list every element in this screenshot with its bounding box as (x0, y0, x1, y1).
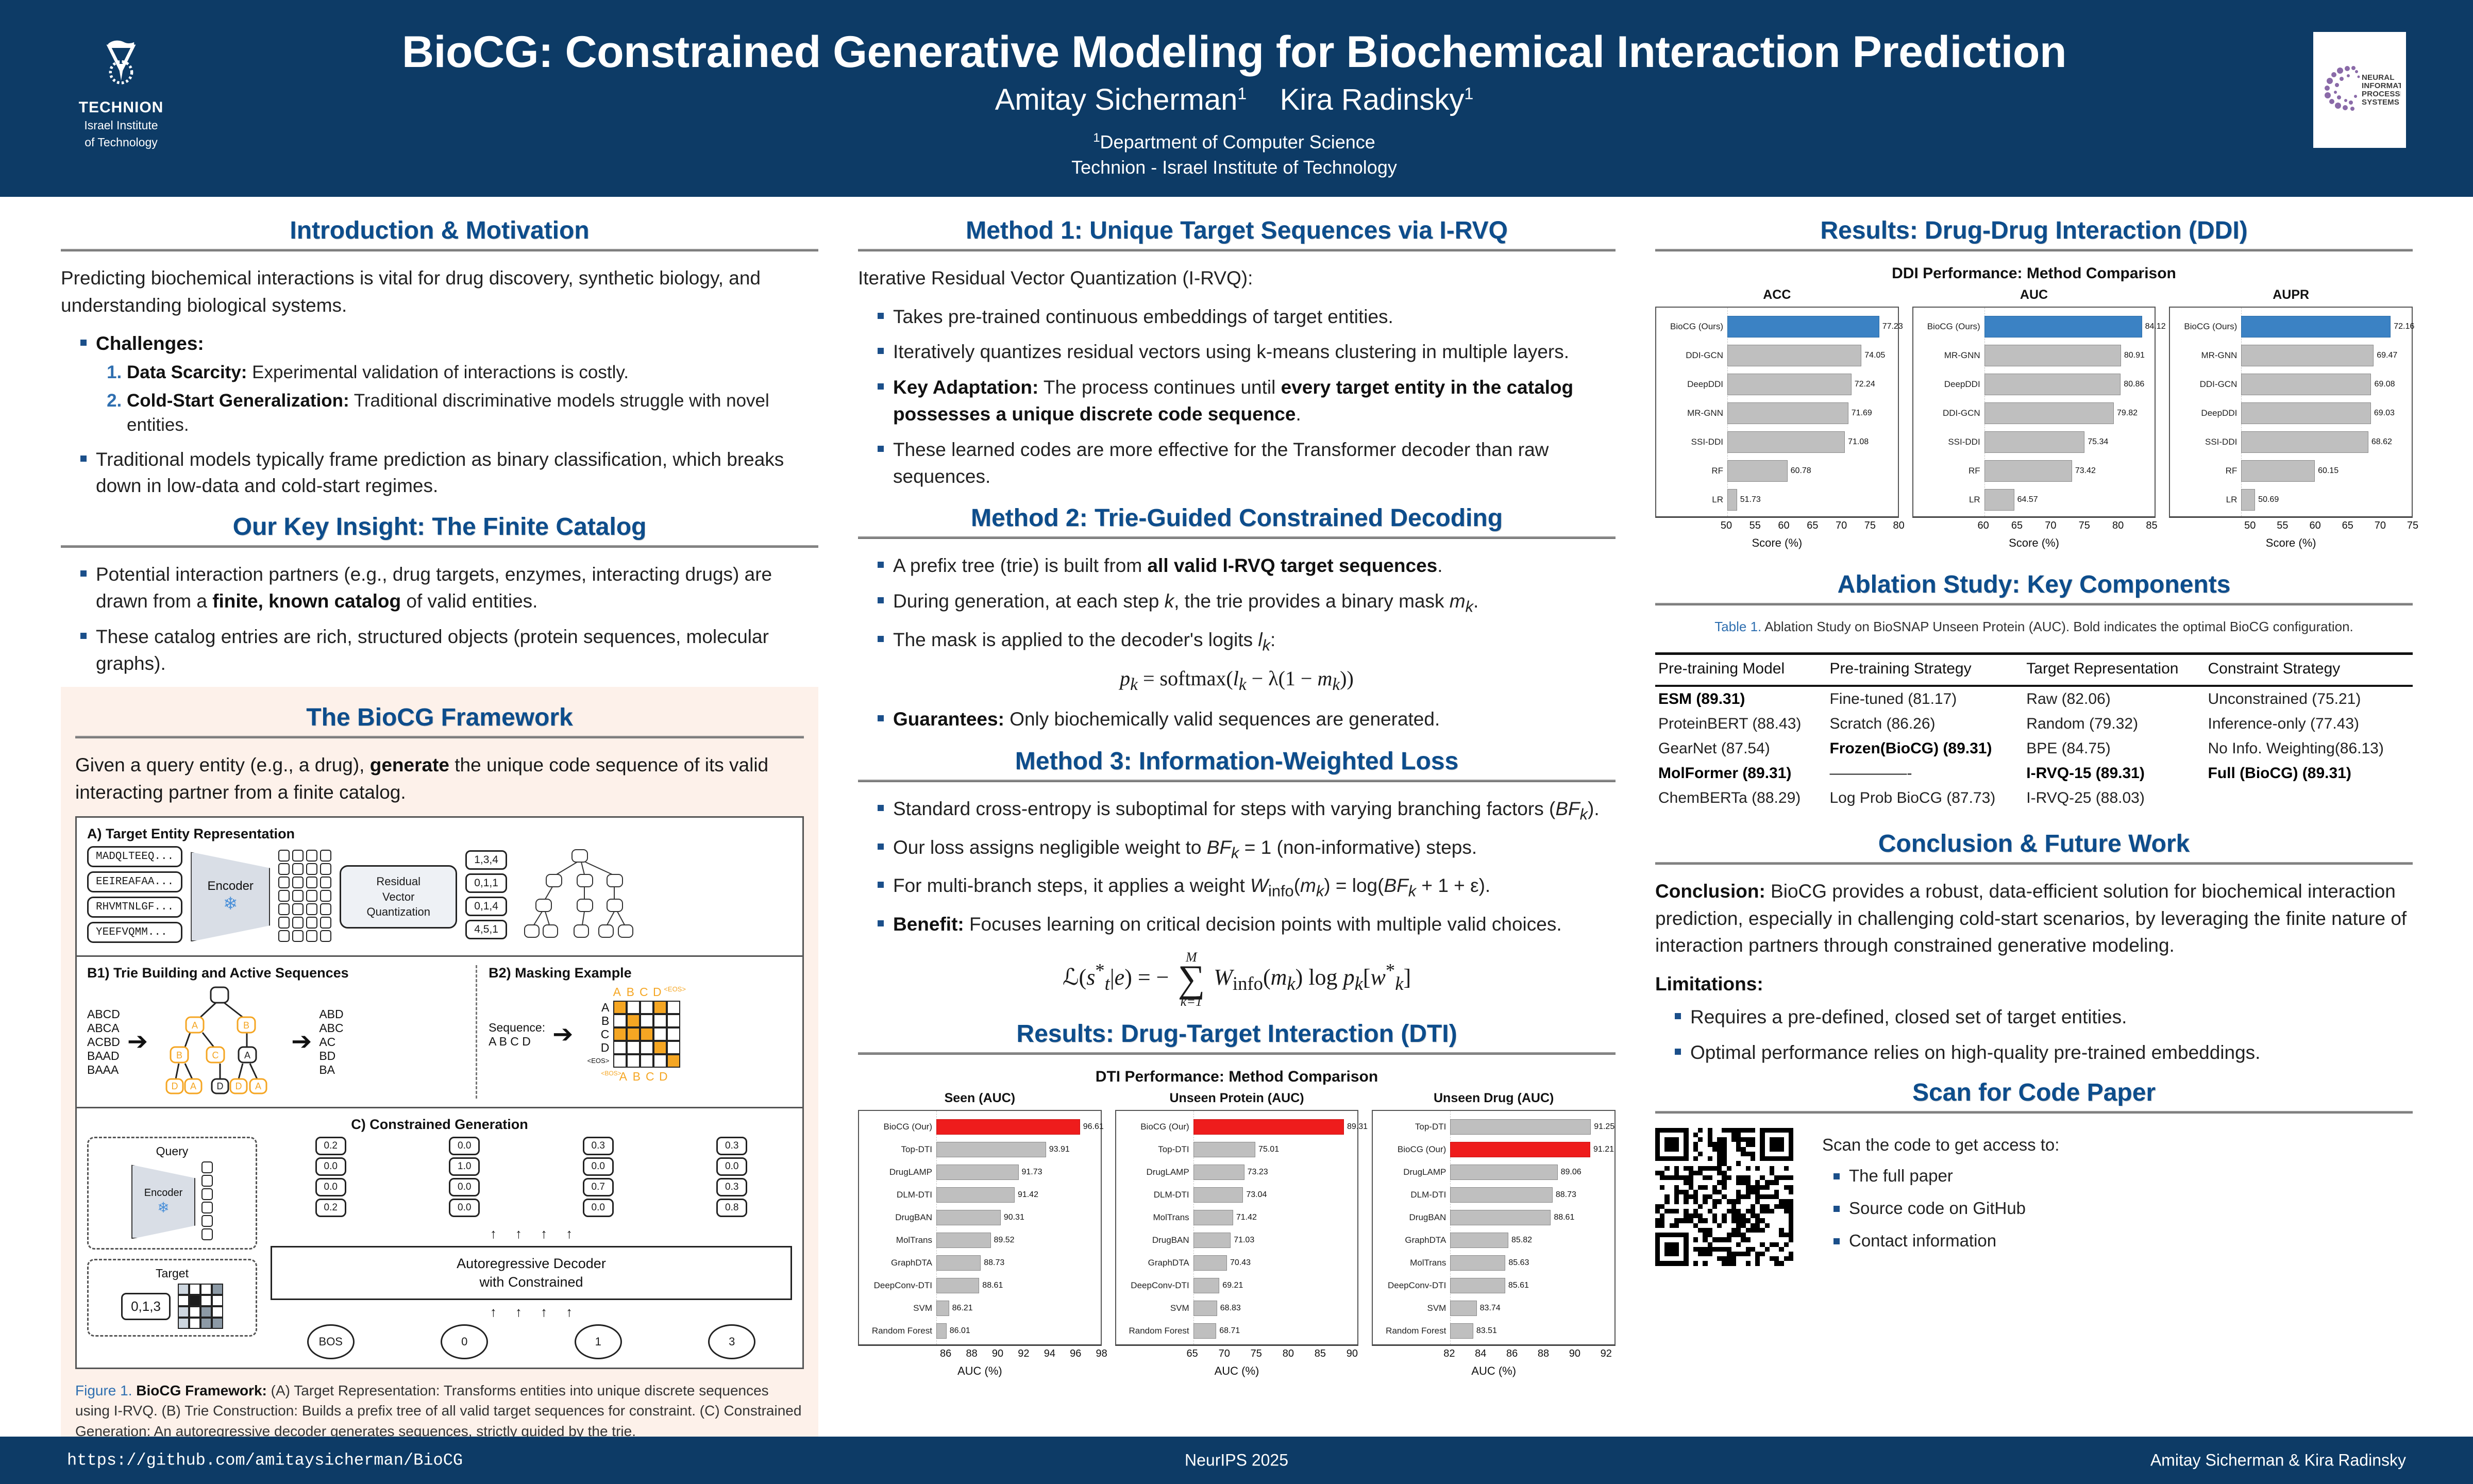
qr-module (1770, 1175, 1774, 1180)
qr-module (1703, 1228, 1707, 1233)
qr-module (1679, 1142, 1684, 1146)
qr-module (1717, 1209, 1722, 1213)
mask-cell (653, 1054, 667, 1068)
qr-module (1660, 1242, 1664, 1247)
qr-module (1698, 1252, 1703, 1256)
qr-module (1679, 1166, 1684, 1171)
bar-track: 85.61 (1450, 1277, 1611, 1294)
chart-bar (1727, 345, 1861, 366)
qr-module (1674, 1128, 1679, 1133)
qr-module (1703, 1247, 1707, 1252)
axis-tick: 85 (2146, 520, 2157, 532)
qr-module (1770, 1218, 1774, 1223)
chart-bar-row: RF60.15 (2241, 457, 2409, 485)
qr-module (1664, 1175, 1669, 1180)
qr-module (1670, 1209, 1674, 1213)
qr-module (1679, 1185, 1684, 1190)
qr-module (1717, 1161, 1722, 1166)
qr-module (1779, 1199, 1784, 1204)
bar-track: 86.21 (936, 1300, 1098, 1317)
qr-module (1712, 1137, 1717, 1142)
logit-cell: 0.0 (583, 1199, 614, 1217)
chart-bar-row: Top-DTI75.01 (1193, 1138, 1355, 1161)
qr-module (1755, 1213, 1760, 1218)
qr-module (1655, 1242, 1660, 1247)
bar-value-label: 73.04 (1246, 1190, 1267, 1200)
list-item: Standard cross-entropy is suboptimal for… (876, 796, 1616, 825)
bar-category-label: DeepDDI (1913, 379, 1984, 390)
qr-module (1736, 1209, 1741, 1213)
qr-module (1655, 1156, 1660, 1161)
qr-module (1751, 1209, 1755, 1213)
chart-bar-row: MolTrans85.63 (1450, 1252, 1611, 1274)
bar-track: 64.57 (1984, 488, 2152, 511)
mask-cell (640, 1014, 653, 1027)
grid-cell (178, 1306, 189, 1318)
qr-module (1703, 1156, 1707, 1161)
qr-module (1664, 1218, 1669, 1223)
chart-bar (936, 1210, 1001, 1225)
bar-track: 68.71 (1193, 1323, 1355, 1339)
qr-module (1674, 1247, 1679, 1252)
qr-module (1722, 1233, 1726, 1237)
qr-module (1722, 1156, 1726, 1161)
chart-bar (1193, 1165, 1244, 1180)
qr-module (1736, 1247, 1741, 1252)
qr-module (1765, 1242, 1770, 1247)
qr-module (1712, 1128, 1717, 1133)
column-left: Introduction & Motivation Predicting bio… (61, 216, 818, 1457)
qr-module (1789, 1256, 1793, 1261)
bar-track: 51.73 (1727, 488, 1895, 511)
section-title-method-3: Method 3: Information-Weighted Loss (858, 747, 1616, 775)
qr-module (1760, 1256, 1764, 1261)
axis-tick: 90 (1569, 1348, 1580, 1360)
qr-module (1655, 1252, 1660, 1256)
svg-text:A: A (255, 1081, 261, 1091)
qr-module (1689, 1209, 1693, 1213)
qr-module (1751, 1142, 1755, 1146)
bar-track: 69.08 (2241, 373, 2409, 396)
qr-module (1727, 1199, 1731, 1204)
chart-bar (1193, 1278, 1220, 1293)
embedding-col (278, 850, 290, 943)
qr-module (1765, 1194, 1770, 1199)
qr-code[interactable] (1655, 1128, 1793, 1266)
qr-module (1660, 1161, 1664, 1166)
intro-bullets: Challenges: Data Scarcity: Experimental … (61, 330, 818, 499)
qr-module (1660, 1209, 1664, 1213)
qr-module (1779, 1252, 1784, 1256)
qr-module (1655, 1256, 1660, 1261)
qr-module (1760, 1166, 1764, 1171)
qr-module (1660, 1156, 1664, 1161)
qr-module (1664, 1204, 1669, 1209)
mask-cell (613, 1041, 627, 1054)
qr-module (1727, 1209, 1731, 1213)
mask-cell (653, 1027, 667, 1041)
column-header: Pre-training Model (1655, 654, 1826, 686)
bar-value-label: 85.63 (1508, 1258, 1529, 1268)
qr-module (1755, 1161, 1760, 1166)
qr-module (1693, 1261, 1698, 1266)
bar-track: 75.01 (1193, 1141, 1355, 1158)
bar-category-label: LR (1656, 495, 1727, 505)
chart-bar (2241, 345, 2374, 366)
logit-cell: 0.3 (583, 1137, 614, 1155)
list-item: Traditional models typically frame predi… (78, 446, 818, 500)
token-node: 3 (708, 1324, 755, 1359)
qr-module (1789, 1261, 1793, 1266)
qr-module (1760, 1180, 1764, 1185)
qr-module (1679, 1190, 1684, 1194)
qr-module (1746, 1199, 1751, 1204)
bar-track: 88.61 (936, 1277, 1098, 1294)
bar-track: 71.03 (1193, 1232, 1355, 1249)
bar-value-label: 51.73 (1740, 495, 1761, 504)
conclusion-text: BioCG provides a robust, data-efficient … (1655, 881, 2407, 956)
qr-module (1703, 1256, 1707, 1261)
row-head: A (580, 1001, 609, 1014)
qr-module (1655, 1137, 1660, 1142)
mask-cell (640, 1027, 653, 1041)
bar-category-label: DeepDDI (1656, 379, 1727, 390)
qr-module (1751, 1175, 1755, 1180)
plot-area: BioCG (Our)96.61Top-DTI93.91DrugLAMP91.7… (858, 1110, 1102, 1346)
qr-module (1660, 1142, 1664, 1146)
chart-bar-row: MR-GNN71.69 (1727, 399, 1895, 428)
chart-bar-row: GraphDTA70.43 (1193, 1252, 1355, 1274)
logit-cell: 0.3 (716, 1178, 747, 1196)
chart-bar (1450, 1165, 1557, 1180)
bar-track: 50.69 (2241, 488, 2409, 511)
qr-module (1684, 1142, 1688, 1146)
bar-category-label: SVM (1373, 1303, 1450, 1313)
qr-module (1789, 1228, 1793, 1233)
decoder-block: Autoregressive Decoder with Constrained (271, 1246, 792, 1300)
qr-module (1703, 1142, 1707, 1146)
b2-mask-matrix: A B C D <EOS> A B C (580, 985, 681, 1084)
qr-module (1698, 1147, 1703, 1152)
qr-module (1655, 1128, 1660, 1133)
table-cell: ESM (89.31) (1655, 686, 1826, 712)
qr-module (1708, 1128, 1712, 1133)
qr-module (1712, 1147, 1717, 1152)
fw-lead-b: generate (370, 754, 449, 775)
table-cell: Frozen(BioCG) (89.31) (1826, 736, 2023, 761)
qr-module (1679, 1247, 1684, 1252)
qr-module (1693, 1204, 1698, 1209)
qr-module (1679, 1252, 1684, 1256)
qr-module (1698, 1175, 1703, 1180)
qr-module (1755, 1204, 1760, 1209)
qr-module (1755, 1228, 1760, 1233)
qr-module (1779, 1247, 1784, 1252)
qr-module (1674, 1237, 1679, 1242)
axis-tick: 92 (1601, 1348, 1612, 1360)
qr-module (1717, 1261, 1722, 1266)
qr-module (1779, 1147, 1784, 1152)
axis-tick: 65 (2011, 520, 2023, 532)
author-1-sup: 1 (1237, 85, 1247, 103)
qr-module (1760, 1128, 1764, 1133)
qr-module (1722, 1185, 1726, 1190)
qr-module (1784, 1213, 1789, 1218)
qr-module (1746, 1233, 1751, 1237)
panel-c-right: 0.2 0.0 0.0 0.2 0.0 1.0 0.0 0.0 (271, 1137, 792, 1359)
qr-module (1741, 1242, 1745, 1247)
qr-module (1689, 1185, 1693, 1190)
chart-panel-title: Unseen Drug (AUC) (1372, 1091, 1616, 1106)
mask-cell (640, 1041, 653, 1054)
logit-cell: 0.2 (315, 1199, 346, 1217)
qr-module (1731, 1237, 1736, 1242)
bar-track: 88.73 (1450, 1187, 1611, 1203)
qr-module (1770, 1133, 1774, 1137)
qr-module (1741, 1194, 1745, 1199)
qr-module (1770, 1152, 1774, 1156)
qr-module (1722, 1209, 1726, 1213)
qr-module (1770, 1237, 1774, 1242)
qr-module (1765, 1218, 1770, 1223)
qr-module (1765, 1256, 1770, 1261)
qr-module (1674, 1171, 1679, 1175)
qr-module (1674, 1152, 1679, 1156)
qr-module (1712, 1237, 1717, 1242)
diagram-panel-b1: B1) Trie Building and Active Sequences A… (87, 965, 477, 1099)
qr-module (1717, 1223, 1722, 1228)
qr-module (1784, 1261, 1789, 1266)
qr-module (1712, 1152, 1717, 1156)
qr-module (1755, 1128, 1760, 1133)
svg-text:A: A (244, 1050, 250, 1060)
section-title-key-insight: Our Key Insight: The Finite Catalog (61, 513, 818, 541)
b2-seq-label: Sequence: (489, 1021, 545, 1035)
qr-module (1679, 1152, 1684, 1156)
qr-module (1789, 1147, 1793, 1152)
grid-cell (178, 1284, 189, 1295)
qr-module (1722, 1133, 1726, 1137)
qr-module (1717, 1204, 1722, 1209)
chart-panels: Seen (AUC)BioCG (Our)96.61Top-DTI93.91Dr… (858, 1091, 1616, 1378)
qr-module (1698, 1161, 1703, 1166)
qr-module (1731, 1142, 1736, 1146)
qr-module (1751, 1204, 1755, 1209)
qr-module (1698, 1133, 1703, 1137)
b2-bottom-labels: <BOS> A B C D (601, 1070, 681, 1084)
axis-tick: 80 (1893, 520, 1905, 532)
seq-text: ABD (319, 1007, 343, 1021)
table-cell: —————- (1826, 761, 2023, 786)
qr-module (1746, 1147, 1751, 1152)
table-cell: BPE (84.75) (2023, 736, 2205, 761)
qr-module (1679, 1161, 1684, 1166)
x-axis: 505560657075 (2240, 518, 2413, 545)
qr-module (1703, 1233, 1707, 1237)
qr-module (1784, 1128, 1789, 1133)
bar-track: 91.25 (1450, 1119, 1611, 1135)
bar-value-label: 84.12 (2145, 322, 2166, 331)
author-1: Amitay Sicherman (995, 83, 1238, 116)
qr-module (1689, 1247, 1693, 1252)
bar-value-label: 68.62 (2371, 437, 2392, 447)
bar-category-label: Top-DTI (1373, 1122, 1450, 1132)
mask-cell (667, 1054, 680, 1068)
qr-module (1789, 1185, 1793, 1190)
chart-bar-row: BioCG (Ours)72.16 (2241, 312, 2409, 341)
qr-module (1674, 1209, 1679, 1213)
svg-text:D: D (235, 1081, 242, 1091)
footer-venue: NeurIPS 2025 (0, 1451, 2473, 1470)
bar-category-label: SSI-DDI (2170, 437, 2241, 447)
diagram-panel-a: A) Target Entity Representation MADQLTEE… (77, 818, 802, 957)
divider (1655, 862, 2413, 865)
table-row: ChemBERTa (88.29)Log Prob BioCG (87.73)I… (1655, 786, 2413, 812)
qr-module (1784, 1228, 1789, 1233)
axis-tick: 70 (2045, 520, 2056, 532)
qr-module (1717, 1142, 1722, 1146)
qr-module (1760, 1218, 1764, 1223)
axis-tick: 55 (2277, 520, 2288, 532)
chart-bar (1984, 316, 2142, 338)
qr-module (1684, 1185, 1688, 1190)
qr-module (1727, 1213, 1731, 1218)
bar-category-label: MolTrans (1116, 1212, 1193, 1223)
qr-module (1689, 1204, 1693, 1209)
qr-module (1779, 1194, 1784, 1199)
qr-module (1731, 1213, 1736, 1218)
qr-module (1684, 1166, 1688, 1171)
decoder-line2: with Constrained (277, 1273, 785, 1291)
code-chip: 0,1,1 (465, 873, 507, 893)
bottom-label: C (643, 1070, 657, 1084)
qr-module (1731, 1199, 1736, 1204)
column-header: Constraint Strategy (2205, 654, 2413, 686)
qr-module (1784, 1256, 1789, 1261)
qr-module (1660, 1204, 1664, 1209)
qr-module (1674, 1185, 1679, 1190)
list-item: Contact information (1831, 1229, 2059, 1253)
list-item: The mask is applied to the decoder's log… (876, 627, 1616, 656)
qr-module (1660, 1128, 1664, 1133)
mask-cell (667, 1014, 680, 1027)
bar-category-label: MR-GNN (1913, 350, 1984, 361)
chart-bar-row: MR-GNN80.91 (1984, 341, 2152, 370)
challenge-1-text: Experimental validation of interactions … (247, 362, 629, 382)
qr-module (1784, 1133, 1789, 1137)
qr-module (1693, 1128, 1698, 1133)
qr-module (1779, 1152, 1784, 1156)
qr-module (1703, 1194, 1707, 1199)
chart-bar-row: DrugBAN71.03 (1193, 1229, 1355, 1252)
qr-module (1693, 1142, 1698, 1146)
x-axis: 657075808590 (1192, 1346, 1359, 1373)
list-item: The full paper (1831, 1164, 2059, 1188)
chart-bar-row: DrugLAMP73.23 (1193, 1161, 1355, 1184)
chart-bar-row: LR50.69 (2241, 485, 2409, 514)
qr-module (1727, 1142, 1731, 1146)
m2-b1c: . (1437, 555, 1442, 576)
insight-bullets: Potential interaction partners (e.g., dr… (61, 561, 818, 677)
bar-track: 96.61 (936, 1119, 1098, 1135)
qr-module (1670, 1237, 1674, 1242)
qr-module (1689, 1223, 1693, 1228)
divider (1655, 1111, 2413, 1114)
qr-module (1765, 1223, 1770, 1228)
qr-module (1664, 1171, 1669, 1175)
qr-module (1755, 1137, 1760, 1142)
qr-module (1717, 1166, 1722, 1171)
qr-module (1703, 1171, 1707, 1175)
decoder-line1: Autoregressive Decoder (277, 1255, 785, 1273)
axis-tick: 80 (1283, 1348, 1294, 1360)
qr-module (1712, 1156, 1717, 1161)
qr-module (1679, 1223, 1684, 1228)
bar-value-label: 72.16 (2394, 322, 2414, 331)
qr-module (1751, 1156, 1755, 1161)
qr-module (1789, 1156, 1793, 1161)
qr-module (1736, 1171, 1741, 1175)
qr-module (1693, 1137, 1698, 1142)
qr-module (1784, 1223, 1789, 1228)
list-item: Cold-Start Generalization: Traditional d… (127, 389, 818, 437)
qr-module (1655, 1237, 1660, 1242)
qr-module (1731, 1156, 1736, 1161)
qr-module (1741, 1213, 1745, 1218)
qr-module (1784, 1156, 1789, 1161)
table-cell: I-RVQ-15 (89.31) (2023, 761, 2205, 786)
chart-bar-row: DeepConv-DTI69.21 (1193, 1274, 1355, 1297)
qr-module (1789, 1247, 1793, 1252)
qr-module (1660, 1137, 1664, 1142)
col-head: A (610, 985, 624, 999)
qr-module (1760, 1156, 1764, 1161)
qr-module (1779, 1166, 1784, 1171)
divider (858, 1052, 1616, 1055)
chart-panel-title: Seen (AUC) (858, 1091, 1102, 1106)
qr-module (1755, 1152, 1760, 1156)
qr-module (1712, 1142, 1717, 1146)
qr-module (1722, 1213, 1726, 1218)
qr-module (1703, 1128, 1707, 1133)
qr-module (1703, 1199, 1707, 1204)
qr-module (1703, 1213, 1707, 1218)
qr-module (1736, 1194, 1741, 1199)
axis-tick: 70 (1836, 520, 1847, 532)
bar-track: 71.42 (1193, 1209, 1355, 1226)
grid-cell (189, 1284, 200, 1295)
qr-module (1779, 1209, 1784, 1213)
qr-module (1746, 1223, 1751, 1228)
qr-module (1660, 1175, 1664, 1180)
qr-module (1684, 1152, 1688, 1156)
qr-module (1751, 1128, 1755, 1133)
axis-tick: 75 (2407, 520, 2418, 532)
table-cell: I-RVQ-25 (88.03) (2023, 786, 2205, 812)
qr-module (1660, 1247, 1664, 1252)
qr-module (1789, 1190, 1793, 1194)
chart-bar-row: MolTrans71.42 (1193, 1206, 1355, 1229)
qr-module (1693, 1209, 1698, 1213)
qr-module (1746, 1247, 1751, 1252)
qr-module (1741, 1190, 1745, 1194)
qr-module (1674, 1190, 1679, 1194)
table-caption: Table 1. Ablation Study on BioSNAP Unsee… (1655, 619, 2413, 635)
chart-bar (1727, 374, 1852, 395)
qr-module (1751, 1252, 1755, 1256)
arrow-right-icon: ➔ (291, 1030, 312, 1054)
qr-module (1770, 1247, 1774, 1252)
